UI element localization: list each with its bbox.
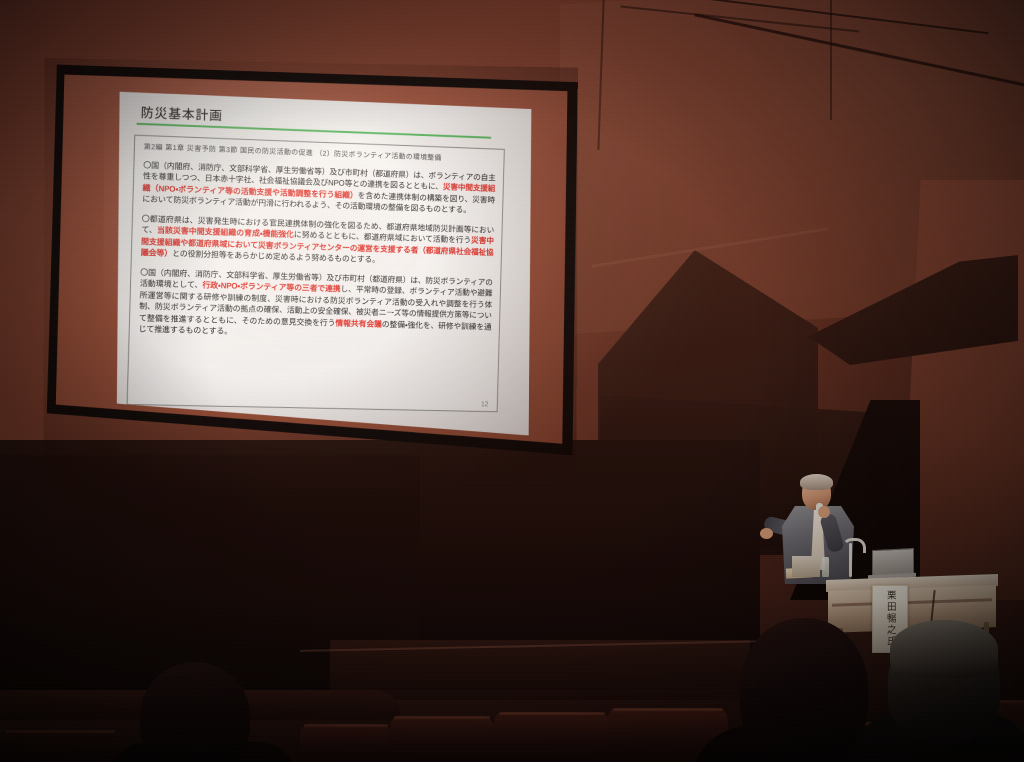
audience-member-hair xyxy=(890,620,998,678)
slide-page-number: 12 xyxy=(481,401,488,408)
water-bottle xyxy=(822,557,829,577)
slide-body-box: 第2編 第1章 災害予防 第3節 国民の防災活動の促進 （2）防災ボランティア活… xyxy=(127,135,505,413)
auditorium-seat xyxy=(494,712,610,762)
microphone-stand xyxy=(849,543,852,577)
presenter-left-hand xyxy=(760,528,773,539)
auditorium-seat xyxy=(300,724,392,762)
projection-screen: 防災基本計画 第2編 第1章 災害予防 第3節 国民の防災活動の促進 （2）防災… xyxy=(43,58,578,486)
projected-slide: 防災基本計画 第2編 第1章 災害予防 第3節 国民の防災活動の促進 （2）防災… xyxy=(117,87,532,457)
slide-paragraph: 〇都道府県は、災害発生時における官民連携体制の強化を図るため、都道府県地域防災計… xyxy=(141,213,495,269)
slide-paragraph: 〇国（内閣府、消防庁、文部科学省、厚生労働省等）及び市町村（都道府県）は、ボラン… xyxy=(142,160,496,217)
auditorium-seat xyxy=(0,730,120,762)
auditorium-seat xyxy=(390,716,494,762)
desk-box xyxy=(792,556,820,577)
audience-member-head xyxy=(740,618,868,762)
presenter-right-hand xyxy=(818,506,830,518)
slide-paragraph: 〇国（内閣府、消防庁、文部科学省、厚生労働省等）及び市町村（都道府県）は、防災ボ… xyxy=(138,267,492,344)
presenter-hair xyxy=(800,474,833,490)
audience-member-head xyxy=(140,662,250,762)
wall-seam xyxy=(830,0,832,120)
gooseneck-microphone-icon xyxy=(842,538,866,553)
slide-content: 防災基本計画 第2編 第1章 災害予防 第3節 国民の防災活動の促進 （2）防災… xyxy=(107,87,531,464)
lecture-hall-photo: 防災基本計画 第2編 第1章 災害予防 第3節 国民の防災活動の促進 （2）防災… xyxy=(0,0,1024,762)
